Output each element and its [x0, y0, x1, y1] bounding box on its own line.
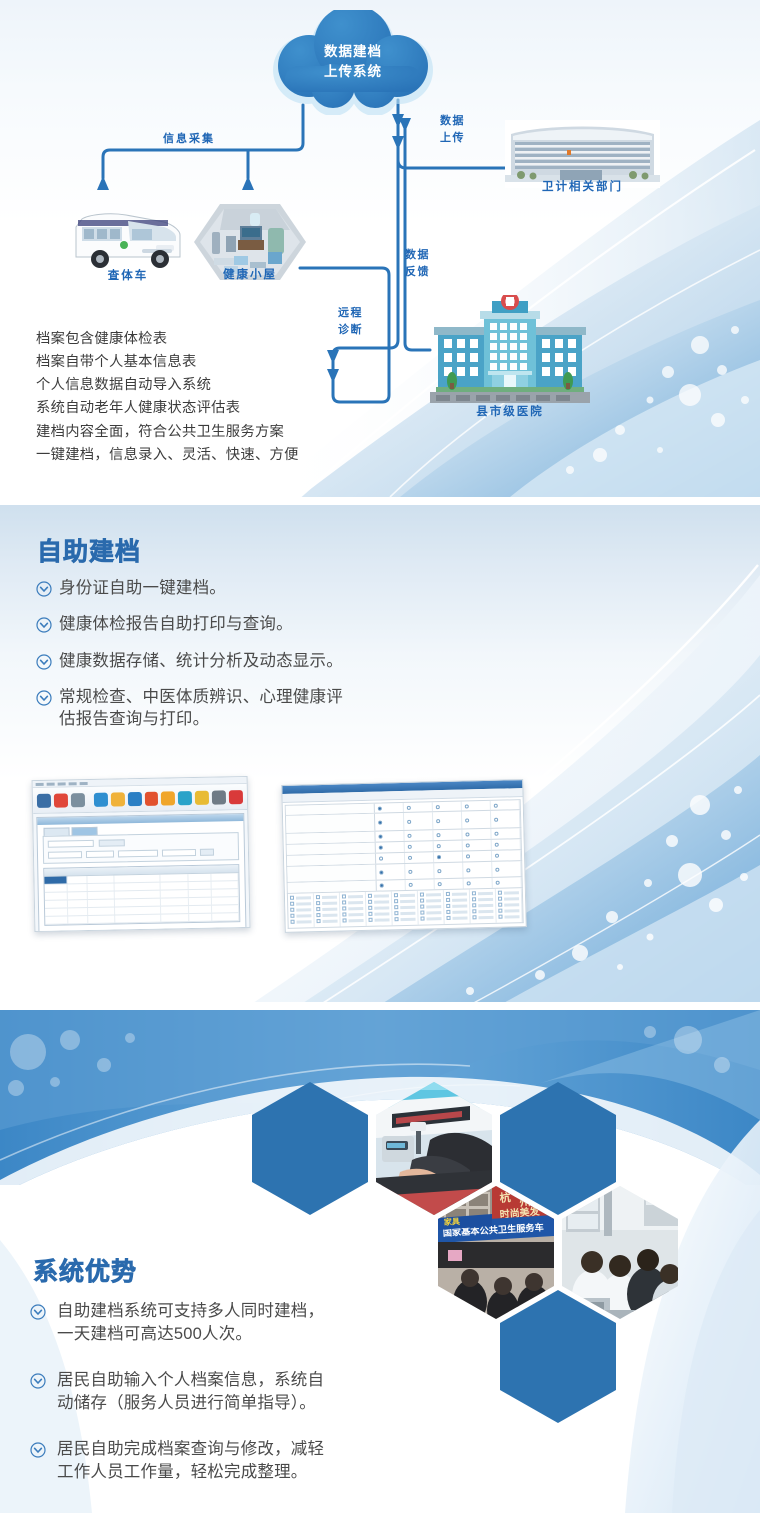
matrix-column [496, 888, 523, 923]
toolbar-icon[interactable] [195, 790, 209, 804]
feature-item: 系统自动老年人健康状态评估表 [36, 397, 299, 420]
node-caption-health-cabin: 健康小屋 [190, 266, 310, 282]
toolbar-icon[interactable] [54, 793, 68, 807]
node-health-authority: 卫计相关部门 [505, 120, 660, 192]
node-caption-county-hospital: 县市级医院 [430, 403, 590, 419]
feature-item: 档案包含健康体检表 [36, 328, 299, 351]
option-cell[interactable] [375, 831, 404, 842]
bullet-text-line1: 居民自助输入个人档案信息，系统自 [57, 1371, 324, 1389]
chevron-down-circle-icon [30, 1442, 46, 1458]
small-button[interactable] [200, 849, 214, 856]
section2-bullet-list: 身份证自助一键建档。 健康体检报告自助打印与查询。 [36, 577, 496, 744]
software-toolbar [33, 784, 247, 814]
option-cell[interactable] [463, 862, 492, 878]
option-cell[interactable] [491, 800, 520, 810]
flow-label-data-upload-line2: 上传 [440, 131, 465, 146]
toolbar-icon[interactable] [71, 793, 85, 807]
option-cell[interactable] [463, 851, 492, 862]
node-caption-health-authority: 卫计相关部门 [505, 178, 660, 194]
county-hospital-icon [430, 295, 590, 407]
matrix-column [418, 890, 445, 925]
screenshot-health-assessment-form[interactable] [281, 779, 527, 933]
toolbar-icon[interactable] [94, 792, 108, 806]
option-cell[interactable] [433, 802, 462, 812]
chevron-down-circle-icon [30, 1304, 46, 1320]
cloud-label: 数据建档 上传系统 [263, 42, 443, 81]
software-body [33, 810, 250, 932]
feature-item: 一键建档，信息录入、灵活、快速、方便 [36, 444, 299, 467]
matrix-column [366, 891, 393, 926]
option-cell[interactable] [462, 811, 491, 829]
option-cell[interactable] [405, 852, 434, 863]
option-cell[interactable] [435, 879, 464, 890]
option-cell[interactable] [434, 852, 463, 863]
input-field[interactable] [86, 851, 114, 859]
cloud-label-line1: 数据建档 [324, 44, 382, 59]
option-cell[interactable] [376, 864, 405, 880]
chevron-down-circle-icon [36, 617, 52, 633]
option-cell[interactable] [434, 841, 463, 852]
section-data-flow-diagram: 数据建档 上传系统 信息采集 数据 上传 数据 反馈 远程 诊断 [0, 0, 760, 497]
option-cell[interactable] [404, 830, 433, 841]
toolbar-icon[interactable] [178, 791, 192, 805]
matrix-column [444, 889, 471, 924]
option-cell[interactable] [434, 863, 463, 879]
flow-label-data-upload-line1: 数据 [440, 114, 465, 129]
node-caption-medical-van: 查体车 [68, 267, 188, 283]
option-cell[interactable] [375, 813, 404, 831]
section3-title: 系统优势 [33, 1252, 137, 1288]
option-cell[interactable] [404, 802, 433, 812]
toolbar-icon[interactable] [229, 790, 243, 804]
bullet-text-line1: 居民自助完成档案查询与修改，减轻 [57, 1440, 324, 1458]
node-health-cabin: 健康小屋 [190, 200, 310, 296]
feature-item: 档案自带个人基本信息表 [36, 351, 299, 374]
bullet-text-line1: 健康体检报告自助打印与查询。 [59, 615, 293, 633]
matrix-column [470, 889, 497, 924]
input-field[interactable] [118, 850, 158, 858]
option-cell[interactable] [491, 810, 520, 828]
chevron-down-circle-icon [36, 581, 52, 597]
bullet-text-line1: 健康数据存储、统计分析及动态显示。 [59, 652, 343, 670]
matrix-column [288, 893, 315, 928]
flow-label-remote-diagnosis-line2: 诊断 [338, 323, 363, 338]
bullet-text-line1: 身份证自助一键建档。 [59, 579, 226, 597]
bullet-text-line2: 估报告查询与打印。 [59, 708, 343, 730]
toolbar-icon[interactable] [37, 793, 51, 807]
chevron-down-circle-icon [36, 654, 52, 670]
option-cell[interactable] [463, 840, 492, 851]
section3-bullet-list: 自助建档系统可支持多人同时建档， 一天建档可高达500人次。 居民自助输入个人档… [30, 1300, 500, 1499]
bullet-item: 居民自助输入个人档案信息，系统自 动储存（服务人员进行简单指导）。 [30, 1369, 500, 1416]
option-cell[interactable] [492, 861, 521, 877]
flow-label-info-collection: 信息采集 [163, 132, 215, 147]
form-body [283, 797, 526, 931]
section2-title: 自助建档 [37, 532, 141, 568]
bullet-text-line2: 动储存（服务人员进行简单指导）。 [57, 1392, 324, 1415]
bullet-item: 身份证自助一键建档。 [36, 577, 496, 599]
bullet-text-line1: 自助建档系统可支持多人同时建档， [57, 1302, 324, 1320]
toolbar-icon[interactable] [161, 791, 175, 805]
query-button[interactable] [99, 839, 125, 846]
option-cell[interactable] [404, 812, 433, 830]
matrix-column [314, 893, 341, 928]
toolbar-icon[interactable] [144, 791, 158, 805]
bullet-item: 常规检查、中医体质辨识、心理健康评 估报告查询与打印。 [36, 686, 496, 731]
toolbar-icon[interactable] [110, 792, 124, 806]
bullet-text-line2: 一天建档可高达500人次。 [57, 1323, 324, 1346]
option-cell[interactable] [405, 841, 434, 852]
matrix-column [392, 891, 419, 926]
chevron-down-circle-icon [36, 690, 52, 706]
node-county-hospital: 县市级医院 [430, 295, 590, 420]
bullet-text-line1: 常规检查、中医体质辨识、心理健康评 [59, 688, 343, 706]
bullet-item: 居民自助完成档案查询与修改，减轻 工作人员工作量，轻松完成整理。 [30, 1438, 500, 1485]
node-medical-van: 查体车 [68, 205, 188, 285]
option-cell[interactable] [376, 842, 405, 853]
bullet-item: 健康体检报告自助打印与查询。 [36, 613, 496, 635]
section-system-advantages: 杭 州 时尚美发 国家基本公共卫生服务车 家具 [0, 1010, 760, 1513]
bullet-item: 自助建档系统可支持多人同时建档， 一天建档可高达500人次。 [30, 1300, 500, 1347]
input-field[interactable] [48, 851, 82, 859]
svg-text:杭: 杭 [499, 1190, 511, 1205]
flow-label-data-feedback-line2: 反馈 [405, 265, 430, 280]
toolbar-icon[interactable] [212, 790, 226, 804]
question-label [287, 865, 376, 882]
toolbar-icon[interactable] [127, 791, 141, 805]
bullet-item: 健康数据存储、统计分析及动态显示。 [36, 650, 496, 672]
date-field[interactable] [48, 840, 94, 848]
option-cell[interactable] [377, 880, 406, 891]
input-field[interactable] [162, 849, 196, 857]
option-cell[interactable] [462, 829, 491, 840]
option-cell[interactable] [491, 828, 520, 839]
option-cell[interactable] [433, 830, 462, 841]
chevron-down-circle-icon [30, 1373, 46, 1389]
option-cell[interactable] [376, 853, 405, 864]
tab-item[interactable] [43, 827, 69, 835]
records-table [43, 864, 240, 926]
flow-label-data-feedback-line1: 数据 [405, 248, 430, 263]
feature-item: 个人信息数据自动导入系统 [36, 374, 299, 397]
section-divider-2 [0, 1002, 760, 1010]
feature-item: 建档内容全面，符合公共卫生服务方案 [36, 421, 299, 444]
option-cell[interactable] [493, 877, 522, 888]
bullet-text-line2: 工作人员工作量，轻松完成整理。 [57, 1461, 324, 1484]
option-cell[interactable] [375, 803, 404, 813]
tab-item-active[interactable] [71, 827, 97, 835]
matrix-column [340, 892, 367, 927]
option-cell[interactable] [405, 863, 434, 879]
cloud-label-line2: 上传系统 [324, 64, 382, 79]
option-cell[interactable] [492, 850, 521, 861]
search-panel [43, 832, 240, 864]
diagram-feature-list: 档案包含健康体检表 档案自带个人基本信息表 个人信息数据自动导入系统 系统自动老… [36, 328, 299, 467]
option-cell[interactable] [492, 839, 521, 850]
poster-page: 数据建档 上传系统 信息采集 数据 上传 数据 反馈 远程 诊断 [0, 0, 760, 1513]
section-divider-1 [0, 497, 760, 505]
option-cell[interactable] [462, 801, 491, 811]
flow-label-remote-diagnosis-line1: 远程 [338, 306, 363, 321]
constitution-matrix [287, 888, 524, 929]
option-cell[interactable] [406, 879, 435, 890]
screenshot-archive-management-software[interactable] [32, 776, 251, 932]
option-cell[interactable] [433, 812, 462, 830]
question-label [286, 814, 375, 833]
cloud-system-node: 数据建档 上传系统 [263, 10, 443, 115]
option-cell[interactable] [464, 878, 493, 889]
software-child-window [36, 813, 247, 932]
svg-text:家具: 家具 [444, 1216, 461, 1227]
